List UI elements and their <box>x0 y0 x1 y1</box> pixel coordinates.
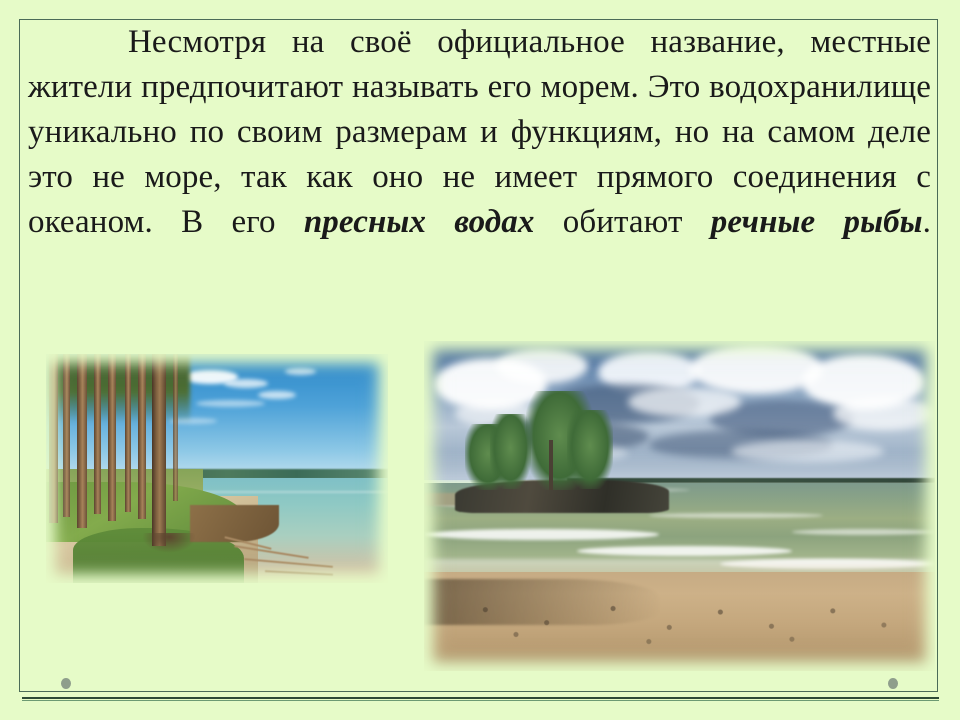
bullet-dot-left <box>61 678 71 689</box>
wave-crest <box>577 546 792 557</box>
pine-trunk <box>125 354 131 512</box>
stormy-beach-scene <box>424 341 935 671</box>
tree-roots <box>142 533 197 554</box>
island-tree <box>490 414 531 490</box>
pine-trunk <box>94 354 101 514</box>
forest-shore-scene <box>46 354 388 583</box>
bottom-rule-line-primary <box>22 697 939 699</box>
pine-trunk <box>138 354 146 519</box>
cloud <box>833 397 935 430</box>
forest-shore-photo <box>46 354 388 583</box>
pine-trunk <box>152 354 166 546</box>
cloud <box>496 348 588 384</box>
pine-trunk <box>173 354 178 501</box>
paragraph-segment-2: обитают <box>534 204 710 240</box>
beach-pebbles <box>424 592 935 651</box>
bottom-rule-line-secondary <box>22 700 939 701</box>
wave-crest <box>792 529 935 535</box>
cloud <box>628 387 740 417</box>
pine-trunk <box>63 354 70 517</box>
bottom-rule <box>22 697 939 702</box>
paragraph-emphasis-fresh-waters: пресных водах <box>304 204 535 240</box>
pine-trunk <box>77 354 87 528</box>
island-tree <box>567 410 613 489</box>
paragraph: Несмотря на своё официальное название, м… <box>28 20 931 290</box>
island-tree-trunk <box>549 440 553 490</box>
paragraph-emphasis-river-fish: речные рыбы <box>711 204 923 240</box>
cloud <box>258 391 296 399</box>
slide-canvas: Несмотря на своё официальное название, м… <box>0 0 960 720</box>
bullet-dot-right <box>888 678 898 689</box>
cloud <box>196 400 264 407</box>
pine-trunk <box>108 354 117 521</box>
cloud <box>285 368 316 375</box>
stormy-beach-photo <box>424 341 935 671</box>
wave-crest <box>649 513 823 518</box>
eroded-bank <box>190 505 279 542</box>
body-text-block: Несмотря на своё официальное название, м… <box>28 20 931 290</box>
pine-trunk <box>49 354 57 523</box>
paragraph-segment-3: . <box>923 204 931 240</box>
